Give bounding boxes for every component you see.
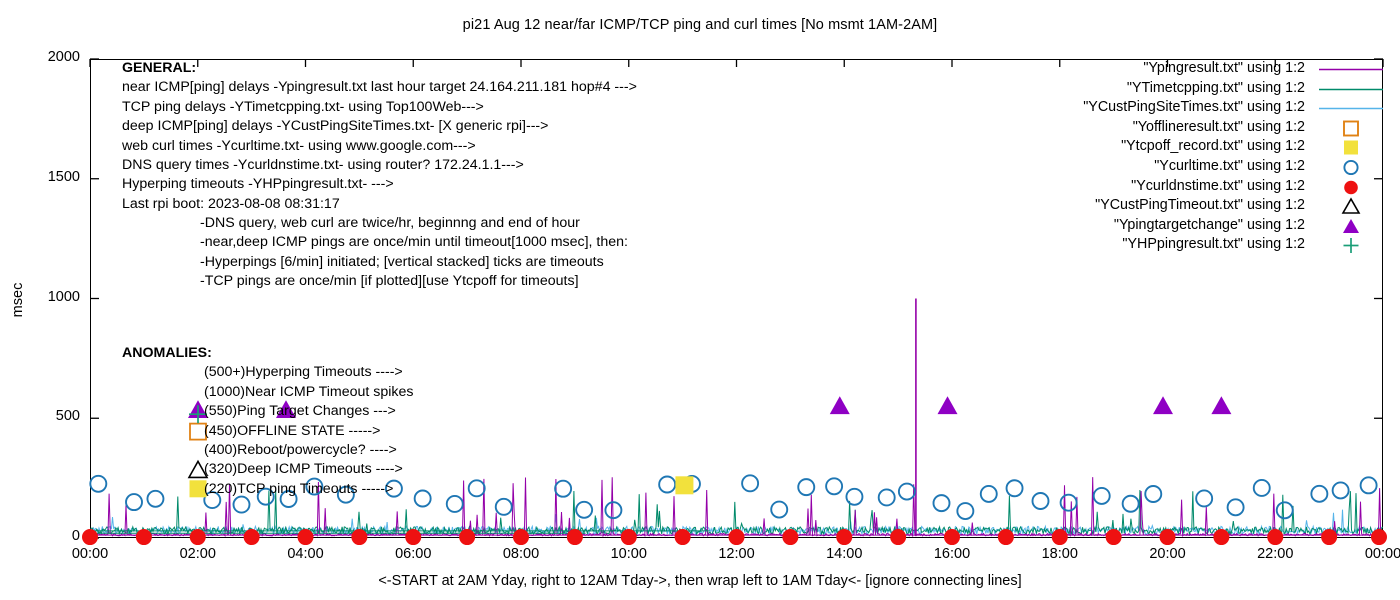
legend-item: "YCustPingSiteTimes.txt" using 1:2	[743, 99, 1383, 118]
x-tick-label: 10:00	[589, 546, 669, 562]
dns-time-marker	[783, 530, 798, 545]
ping-target-change-marker	[1153, 396, 1173, 414]
anomalies-annotation-block: ANOMALIES:(500+)Hyperping Timeouts ---->…	[122, 344, 413, 499]
dns-time-marker	[1372, 530, 1387, 545]
dns-time-marker	[891, 530, 906, 545]
legend-item: "Ytcpoff_record.txt" using 1:2	[743, 138, 1383, 157]
dns-time-marker	[83, 530, 98, 545]
general-line: Hyperping timeouts -YHPpingresult.txt- -…	[122, 175, 637, 194]
x-tick-label: 00:00	[1343, 546, 1400, 562]
curl-time-marker	[957, 503, 973, 519]
general-heading: GENERAL:	[122, 59, 637, 78]
dns-time-marker	[406, 530, 421, 545]
curl-time-marker	[846, 489, 862, 505]
general-line: web curl times -Ycurltime.txt- using www…	[122, 137, 637, 156]
legend-label: "Yofflineresult.txt" using 1:2	[1133, 119, 1305, 135]
curl-time-marker	[1061, 495, 1077, 511]
legend-key-circle-filled-icon	[1311, 178, 1383, 197]
dns-time-marker	[729, 530, 744, 545]
x-tick-label: 00:00	[50, 546, 130, 562]
x-tick-label: 16:00	[912, 546, 992, 562]
gnuplot-chart: pi21 Aug 12 near/far ICMP/TCP ping and c…	[0, 0, 1400, 600]
dns-time-marker	[621, 530, 636, 545]
ping-target-change-marker	[1211, 396, 1231, 414]
legend-label: "Ytcpoff_record.txt" using 1:2	[1121, 138, 1305, 154]
legend-item: "YHPpingresult.txt" using 1:2	[743, 236, 1383, 255]
anomaly-item: (550)Ping Target Changes --->	[122, 402, 413, 421]
general-line: TCP ping delays -YTimetcpping.txt- using…	[122, 98, 637, 117]
curl-time-marker	[742, 475, 758, 491]
legend-key-line-icon	[1311, 80, 1383, 99]
general-line: near ICMP[ping] delays -Ypingresult.txt …	[122, 78, 637, 97]
notes-annotation-block: -DNS query, web curl are twice/hr, begin…	[200, 214, 628, 292]
legend-item: "Ypingresult.txt" using 1:2	[743, 60, 1383, 79]
x-tick-label: 20:00	[1128, 546, 1208, 562]
ping-target-change-marker	[830, 396, 850, 414]
legend-key-square-open-icon	[1311, 119, 1383, 138]
dns-time-marker	[1160, 530, 1175, 545]
curl-time-marker	[1123, 496, 1139, 512]
y-tick-label: 0	[18, 528, 80, 544]
legend-item: "YCustPingTimeout.txt" using 1:2	[743, 197, 1383, 216]
dns-time-marker	[567, 530, 582, 545]
dns-time-marker	[136, 530, 151, 545]
curl-time-marker	[1311, 486, 1327, 502]
legend-label: "Ypingresult.txt" using 1:2	[1143, 60, 1305, 76]
legend-item: "YTimetcpping.txt" using 1:2	[743, 80, 1383, 99]
curl-time-marker	[659, 476, 675, 492]
curl-time-marker	[496, 499, 512, 515]
y-tick-label: 1500	[18, 169, 80, 185]
legend-label: "YCustPingTimeout.txt" using 1:2	[1095, 197, 1305, 213]
x-tick-label: 08:00	[481, 546, 561, 562]
curl-time-marker	[1277, 502, 1293, 518]
general-annotation-block: GENERAL:near ICMP[ping] delays -Ypingres…	[122, 59, 637, 214]
anomaly-item: (1000)Near ICMP Timeout spikes	[122, 383, 413, 402]
curl-time-marker	[415, 491, 431, 507]
dns-time-marker	[1106, 530, 1121, 545]
x-tick-label: 04:00	[266, 546, 346, 562]
curl-time-marker	[771, 502, 787, 518]
x-tick-label: 18:00	[1020, 546, 1100, 562]
curl-time-marker	[447, 496, 463, 512]
legend-item: "Ycurldnstime.txt" using 1:2	[743, 178, 1383, 197]
anomaly-item: (220)TCP ping Timeouts ----->	[122, 480, 413, 499]
anomalies-heading: ANOMALIES:	[122, 344, 413, 363]
curl-time-marker	[826, 478, 842, 494]
legend-key-circle-open-icon	[1311, 158, 1383, 177]
legend-key-triangle-filled-icon	[1311, 217, 1383, 236]
legend-item: "Yofflineresult.txt" using 1:2	[743, 119, 1383, 138]
legend-item: "Ycurltime.txt" using 1:2	[743, 158, 1383, 177]
curl-time-marker	[1196, 490, 1212, 506]
legend-label: "YCustPingSiteTimes.txt" using 1:2	[1083, 99, 1305, 115]
legend-key-line-icon	[1311, 99, 1383, 118]
curl-time-marker	[899, 484, 915, 500]
dns-time-marker	[352, 530, 367, 545]
note-line: -TCP pings are once/min [if plotted][use…	[200, 272, 628, 291]
anomaly-item: (500+)Hyperping Timeouts ---->	[122, 363, 413, 382]
legend-label: "YTimetcpping.txt" using 1:2	[1127, 80, 1305, 96]
curl-time-marker	[1361, 477, 1377, 493]
dns-time-marker	[837, 530, 852, 545]
y-tick-label: 2000	[18, 49, 80, 65]
legend-label: "Ypingtargetchange" using 1:2	[1114, 217, 1305, 233]
dns-time-marker	[244, 530, 259, 545]
dns-time-marker	[1214, 530, 1229, 545]
note-line: -Hyperpings [6/min] initiated; [vertical…	[200, 253, 628, 272]
curl-time-marker	[1333, 482, 1349, 498]
general-line: deep ICMP[ping] delays -YCustPingSiteTim…	[122, 117, 637, 136]
dns-time-marker	[190, 530, 205, 545]
curl-time-marker	[1094, 488, 1110, 504]
y-tick-label: 500	[18, 408, 80, 424]
general-line: DNS query times -Ycurldnstime.txt- using…	[122, 156, 637, 175]
curl-time-marker	[879, 489, 895, 505]
curl-time-marker	[1254, 480, 1270, 496]
dns-time-marker	[945, 530, 960, 545]
curl-time-marker	[933, 495, 949, 511]
curl-time-marker	[576, 502, 592, 518]
curl-time-marker	[981, 486, 997, 502]
legend-key-triangle-open-icon	[1311, 197, 1383, 216]
dns-time-marker	[298, 530, 313, 545]
tcp-timeout-marker	[676, 477, 693, 494]
dns-time-marker	[514, 530, 529, 545]
legend-label: "Ycurltime.txt" using 1:2	[1154, 158, 1305, 174]
note-line: -DNS query, web curl are twice/hr, begin…	[200, 214, 628, 233]
general-line: Last rpi boot: 2023-08-08 08:31:17	[122, 195, 637, 214]
anomaly-item: (400)Reboot/powercycle? ---->	[122, 441, 413, 460]
dns-time-marker	[1322, 530, 1337, 545]
curl-time-marker	[1145, 486, 1161, 502]
legend-key-square-filled-icon	[1311, 138, 1383, 157]
curl-time-marker	[469, 480, 485, 496]
anomaly-item: (320)Deep ICMP Timeouts ---->	[122, 460, 413, 479]
x-tick-label: 06:00	[373, 546, 453, 562]
note-line: -near,deep ICMP pings are once/min until…	[200, 233, 628, 252]
x-tick-label: 22:00	[1235, 546, 1315, 562]
anomaly-item: (450)OFFLINE STATE ----->	[122, 422, 413, 441]
dns-time-marker	[675, 530, 690, 545]
dns-time-marker	[1268, 530, 1283, 545]
x-tick-label: 14:00	[804, 546, 884, 562]
legend-key-plus-icon	[1311, 236, 1383, 255]
x-axis-label: <-START at 2AM Yday, right to 12AM Tday-…	[0, 573, 1400, 589]
legend-label: "YHPpingresult.txt" using 1:2	[1122, 236, 1305, 252]
y-tick-label: 1000	[18, 289, 80, 305]
curl-time-marker	[1228, 499, 1244, 515]
dns-time-marker	[1052, 530, 1067, 545]
curl-time-marker	[90, 476, 106, 492]
x-tick-label: 12:00	[697, 546, 777, 562]
legend-item: "Ypingtargetchange" using 1:2	[743, 217, 1383, 236]
legend-label: "Ycurldnstime.txt" using 1:2	[1131, 178, 1305, 194]
curl-time-marker	[555, 481, 571, 497]
dns-time-marker	[460, 530, 475, 545]
x-tick-label: 02:00	[158, 546, 238, 562]
ping-target-change-marker	[938, 396, 958, 414]
curl-time-marker	[1032, 493, 1048, 509]
curl-time-marker	[1007, 480, 1023, 496]
dns-time-marker	[998, 530, 1013, 545]
legend-key-line-icon	[1311, 60, 1383, 79]
curl-time-marker	[798, 479, 814, 495]
